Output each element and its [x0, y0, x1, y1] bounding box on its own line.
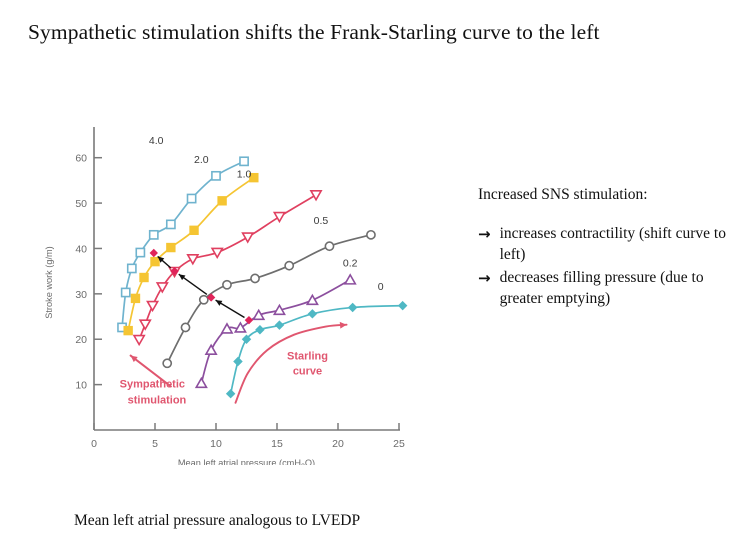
marker-square-open-icon — [188, 194, 196, 202]
marker-square-filled-icon — [151, 258, 159, 266]
marker-square-filled-icon — [131, 294, 139, 302]
marker-circle-open-icon — [251, 274, 259, 282]
marker-triangle-up-open-icon — [254, 310, 264, 319]
series-label-4-0: 4.0 — [149, 135, 164, 147]
series-label-0-5: 0.5 — [314, 215, 329, 227]
marker-triangle-down-open-icon — [157, 283, 167, 292]
chart-svg: 0510152025102030405060Mean left atrial p… — [0, 95, 450, 465]
y-tick-label: 50 — [75, 198, 87, 210]
marker-square-filled-icon — [190, 226, 198, 234]
y-tick-label: 40 — [75, 243, 87, 255]
slide-canvas: Sympathetic stimulation shifts the Frank… — [0, 0, 753, 547]
y-tick-label: 10 — [75, 380, 87, 392]
y-tick-label: 30 — [75, 289, 87, 301]
sympathetic-label-line2: stimulation — [128, 394, 187, 406]
series-label-0: 0 — [378, 281, 384, 293]
marker-triangle-up-open-icon — [235, 323, 245, 332]
marker-diamond-filled-icon — [276, 321, 284, 329]
slide-title: Sympathetic stimulation shifts the Frank… — [28, 20, 728, 45]
notes-bullet-1-text: increases contractility (shift curve to … — [500, 224, 746, 265]
notes-bullet-2-text: decreases filling pressure (due to great… — [500, 268, 746, 309]
x-tick-label: 25 — [393, 438, 405, 450]
marker-triangle-up-open-icon — [206, 345, 216, 354]
notes-bullet-1: → increases contractility (shift curve t… — [478, 224, 746, 265]
x-axis-title: Mean left atrial pressure (cmH2O) — [178, 458, 315, 465]
marker-circle-open-icon — [200, 296, 208, 304]
y-tick-label: 60 — [75, 153, 87, 165]
shift-node-diamond-icon — [150, 249, 158, 257]
marker-circle-open-icon — [367, 231, 375, 239]
marker-diamond-filled-icon — [256, 326, 264, 334]
marker-circle-open-icon — [181, 323, 189, 331]
y-tick-label: 20 — [75, 334, 87, 346]
starling-label-line2: curve — [293, 366, 322, 378]
marker-triangle-down-open-icon — [243, 233, 253, 242]
x-tick-label: 10 — [210, 438, 222, 450]
x-tick-label: 0 — [91, 438, 97, 450]
starling-curve-line — [236, 325, 347, 403]
marker-square-filled-icon — [140, 273, 148, 281]
series-0-5 — [163, 231, 375, 368]
marker-square-open-icon — [167, 220, 175, 228]
marker-square-open-icon — [150, 231, 158, 239]
marker-square-open-icon — [122, 288, 130, 296]
marker-circle-open-icon — [163, 359, 171, 367]
marker-triangle-up-open-icon — [196, 378, 206, 387]
marker-circle-open-icon — [285, 262, 293, 270]
marker-triangle-up-open-icon — [307, 295, 317, 304]
marker-triangle-down-open-icon — [134, 336, 144, 345]
sympathetic-label-line1: Sympathetic — [120, 378, 185, 390]
marker-triangle-down-open-icon — [147, 302, 157, 311]
series-4-0 — [118, 157, 248, 331]
marker-triangle-down-open-icon — [188, 255, 198, 264]
marker-diamond-filled-icon — [227, 390, 235, 398]
series-line — [122, 161, 244, 327]
notes-block: Increased SNS stimulation: → increases c… — [478, 186, 746, 312]
marker-square-open-icon — [136, 248, 144, 256]
starling-label-line1: Starling — [287, 351, 328, 363]
marker-square-filled-icon — [218, 197, 226, 205]
marker-triangle-down-open-icon — [274, 213, 284, 222]
arrow-right-icon: → — [478, 268, 491, 289]
marker-triangle-down-open-icon — [140, 320, 150, 329]
series-0-2 — [196, 275, 355, 387]
starling-arrowhead-icon — [340, 322, 347, 329]
marker-triangle-up-open-icon — [222, 324, 232, 333]
x-tick-label: 5 — [152, 438, 158, 450]
notes-lead: Increased SNS stimulation: — [478, 186, 746, 204]
marker-square-open-icon — [240, 157, 248, 165]
x-tick-label: 20 — [332, 438, 344, 450]
marker-square-filled-icon — [124, 327, 132, 335]
marker-square-filled-icon — [167, 243, 175, 251]
slide-footnote: Mean left atrial pressure analogous to L… — [74, 512, 360, 530]
marker-diamond-filled-icon — [349, 304, 357, 312]
shift-node-diamond-icon — [245, 316, 253, 324]
x-tick-label: 15 — [271, 438, 283, 450]
marker-diamond-filled-icon — [234, 358, 242, 366]
series-label-2-0: 2.0 — [194, 154, 209, 166]
marker-triangle-down-open-icon — [311, 191, 321, 200]
marker-triangle-up-open-icon — [345, 275, 355, 284]
series-label-0-2: 0.2 — [343, 258, 358, 270]
frank-starling-figure: 0510152025102030405060Mean left atrial p… — [0, 95, 450, 465]
y-axis-title: Stroke work (g/m) — [44, 246, 54, 319]
marker-circle-open-icon — [223, 281, 231, 289]
series-label-1-0: 1.0 — [237, 169, 252, 181]
arrow-right-icon: → — [478, 224, 491, 245]
shift-arrowhead-icon — [179, 274, 186, 280]
marker-diamond-filled-icon — [399, 302, 407, 310]
marker-square-open-icon — [212, 172, 220, 180]
marker-circle-open-icon — [325, 242, 333, 250]
marker-square-open-icon — [128, 264, 136, 272]
notes-bullet-2: → decreases filling pressure (due to gre… — [478, 268, 746, 309]
marker-diamond-filled-icon — [308, 310, 316, 318]
